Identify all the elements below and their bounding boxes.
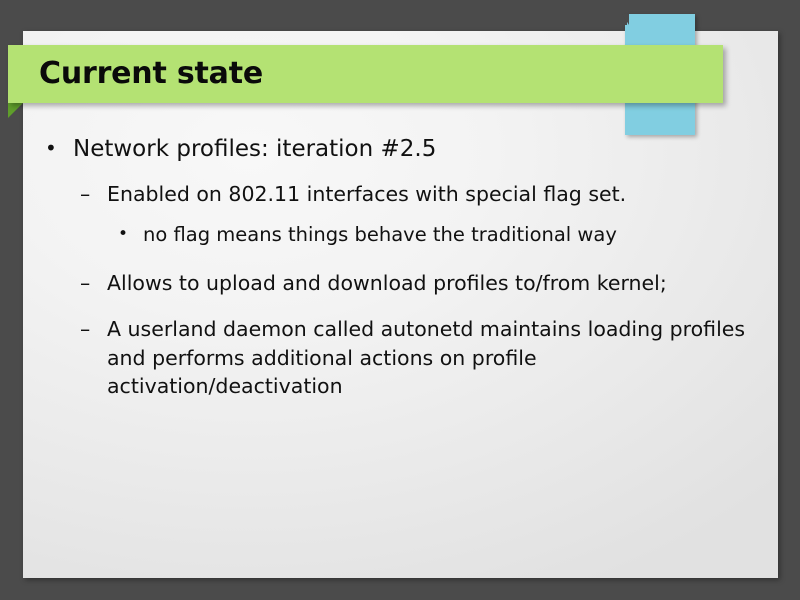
outline-item-text: Network profiles: iteration #2.5 xyxy=(73,135,778,165)
title-banner-fold-decoration xyxy=(8,103,23,118)
outline-spacer xyxy=(23,302,778,315)
page-title: Current state xyxy=(8,59,263,89)
outline-item-text: no flag means things behave the traditio… xyxy=(143,222,778,249)
outline-spacer xyxy=(23,171,778,180)
bullet-marker-icon: • xyxy=(45,135,73,163)
outline-item-level2: – Allows to upload and download profiles… xyxy=(23,269,778,297)
outline-item-text: Enabled on 802.11 interfaces with specia… xyxy=(107,180,778,208)
outline-spacer xyxy=(23,256,778,269)
slide-stage: Current state • Network profiles: iterat… xyxy=(0,0,800,600)
title-banner: Current state xyxy=(8,45,723,103)
blue-bar-notch-decoration xyxy=(618,14,627,25)
outline-item-text: Allows to upload and download profiles t… xyxy=(107,269,778,297)
outline-item-level2: – A userland daemon called autonetd main… xyxy=(23,315,778,400)
outline-item-text: A userland daemon called autonetd mainta… xyxy=(107,315,778,400)
outline-item-level1: • Network profiles: iteration #2.5 xyxy=(23,135,778,165)
outline-spacer xyxy=(23,213,778,222)
bullet-marker-icon: – xyxy=(80,180,107,208)
slide-body-content: • Network profiles: iteration #2.5 – Ena… xyxy=(23,135,778,405)
bullet-marker-icon: • xyxy=(118,222,143,247)
outline-item-level2: – Enabled on 802.11 interfaces with spec… xyxy=(23,180,778,208)
outline-item-level3: • no flag means things behave the tradit… xyxy=(23,222,778,249)
bullet-marker-icon: – xyxy=(80,269,107,297)
bullet-marker-icon: – xyxy=(80,315,107,343)
